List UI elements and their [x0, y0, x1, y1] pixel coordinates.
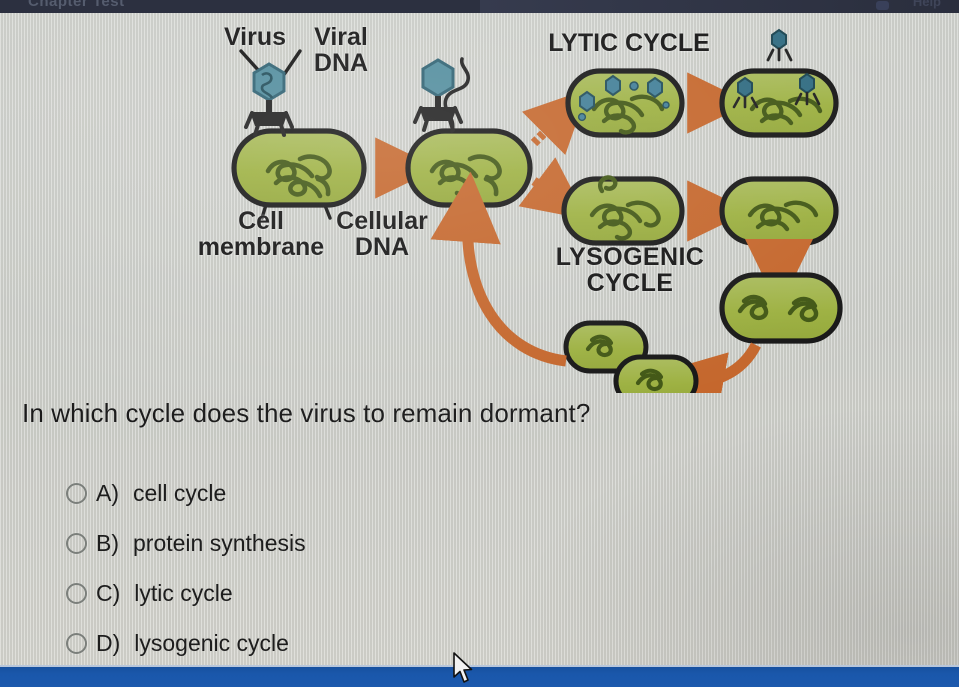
label-virus: Virus	[210, 25, 300, 51]
answer-letter-c: C)	[96, 580, 120, 607]
radio-button-a[interactable]	[66, 483, 87, 504]
cell-lysogenic-2	[722, 179, 836, 243]
question-text: In which cycle does the virus to remain …	[22, 398, 922, 429]
answer-option-d[interactable]: D) lysogenic cycle	[66, 618, 766, 668]
radio-button-d[interactable]	[66, 633, 87, 654]
label-viral-dna: Viral DNA	[296, 25, 386, 76]
arrow-to-lytic	[534, 113, 564, 143]
released-phage	[768, 30, 791, 60]
cell-lysogenic-dividing	[722, 275, 840, 341]
cell-lytic-mature	[722, 30, 836, 135]
answer-text-d: lysogenic cycle	[134, 630, 289, 657]
answer-letter-a: A)	[96, 480, 119, 507]
viral-cycle-diagram: Virus Viral DNA Cell membrane Cellular D…	[0, 13, 959, 393]
app-bar-title: Chapter Test	[28, 0, 125, 10]
radio-button-c[interactable]	[66, 583, 87, 604]
phage-attached-cell2	[415, 60, 461, 130]
label-cellular-dna: Cellular DNA	[322, 209, 442, 260]
answer-option-c[interactable]: C) lytic cycle	[66, 568, 766, 618]
answer-option-b[interactable]: B) protein synthesis	[66, 518, 766, 568]
cell-daughter-pair	[566, 323, 696, 393]
os-taskbar[interactable]	[0, 665, 959, 687]
app-title-bar: Chapter Test Help	[0, 0, 959, 13]
answer-text-b: protein synthesis	[133, 530, 306, 557]
answer-options-list: A) cell cycle B) protein synthesis C) ly…	[66, 468, 766, 668]
answer-text-a: cell cycle	[133, 480, 226, 507]
label-lysogenic-cycle: LYSOGENIC CYCLE	[535, 245, 725, 296]
arrow-to-lysogenic	[534, 181, 560, 199]
label-cell-membrane: Cell membrane	[186, 209, 336, 260]
mouse-pointer-icon	[452, 652, 474, 685]
answer-option-a[interactable]: A) cell cycle	[66, 468, 766, 518]
help-button[interactable]: Help	[913, 0, 941, 9]
phage-attached-cell1	[246, 64, 292, 135]
cell-lysogenic-1	[564, 177, 682, 243]
help-circle-icon[interactable]	[876, 1, 889, 10]
radio-button-b[interactable]	[66, 533, 87, 554]
label-lytic-cycle: LYTIC CYCLE	[534, 31, 724, 57]
diagram-svg	[0, 13, 959, 393]
answer-letter-d: D)	[96, 630, 120, 657]
answer-text-c: lytic cycle	[134, 580, 232, 607]
cell-uninfected	[234, 131, 364, 205]
answer-letter-b: B)	[96, 530, 119, 557]
cell-lytic-assembly	[568, 71, 682, 135]
arrow-lysogenic-divide	[690, 345, 756, 382]
